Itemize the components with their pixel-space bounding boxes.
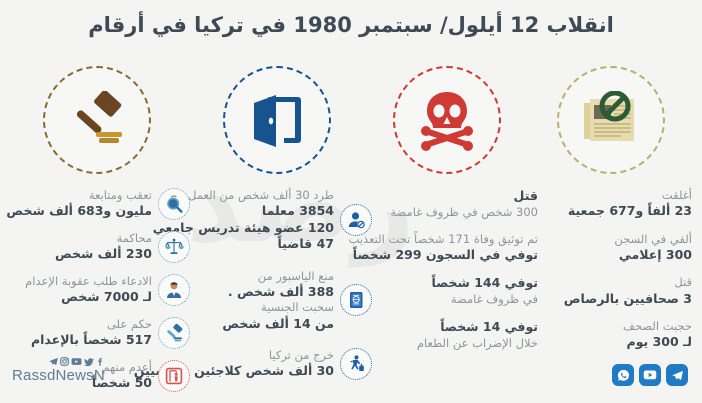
whatsapp-icon <box>617 369 630 382</box>
whatsapp-icon-button[interactable] <box>612 364 634 386</box>
prosecutor-icon <box>158 274 190 306</box>
stat-value: 23 ألفاً و677 جمعية <box>530 203 692 220</box>
facebook-icon <box>96 357 105 366</box>
stats-list-deaths: قتل 300 شخص في ظروف غامضة تم توثيق وفاة … <box>352 188 542 351</box>
stat-value: 230 ألف شخص <box>4 246 152 263</box>
stat-item: قتل 3 صحافيين بالرصاص <box>530 275 692 307</box>
brand-name: RassdNewsN <box>12 367 105 384</box>
youtube-icon <box>71 357 82 366</box>
stat-item: تم توثيق وفاة 171 شخصاً تحت التعذيب توفي… <box>356 232 538 264</box>
scales-of-justice-icon <box>158 231 190 263</box>
refugee-walking-icon <box>340 348 372 380</box>
stat-value: توفي 144 شخصاً <box>356 275 538 292</box>
stat-item: خرج من تركيا 30 ألف شخص كلاجئين سياسيين <box>182 348 372 380</box>
brand-logo: RassdNewsN <box>12 357 105 384</box>
stat-value: 517 شخصاً بالإعدام <box>4 332 152 349</box>
stat-value: 300 شخص في ظروف غامضة <box>356 205 538 220</box>
telegram-icon <box>49 357 58 366</box>
stat-item: توفي 144 شخصاً في ظروف غامضة <box>356 275 538 307</box>
stat-label: محاكمة <box>4 231 152 246</box>
stat-label: ألقي في السجن <box>530 232 692 247</box>
newspaper-banned-icon <box>557 66 665 174</box>
stat-item: حكم على 517 شخصاً بالإعدام <box>4 317 190 349</box>
column-press: أغلقت 23 ألفاً و677 جمعية ألقي في السجن … <box>526 66 696 363</box>
stat-value: 388 ألف شخص . <box>182 284 334 301</box>
telegram-icon <box>671 369 684 382</box>
telegram-icon-button[interactable] <box>666 364 688 386</box>
stat-item: محاكمة 230 ألف شخص <box>4 231 190 263</box>
stat-item: أغلقت 23 ألفاً و677 جمعية <box>530 188 692 220</box>
stat-label: خلال الإضراب عن الطعام <box>356 336 538 351</box>
stat-label: قتل <box>530 275 692 290</box>
stat-value: مليون و683 ألف شخص <box>4 203 152 220</box>
stat-label: تم توثيق وفاة 171 شخصاً تحت التعذيب <box>356 232 538 247</box>
column-exile: طرد 30 ألف شخص من العمل 3854 معلما 120 ع… <box>182 66 372 391</box>
infographic-canvas: رصد انقلاب 12 أيلول/ سبتمبر 1980 في تركي… <box>0 0 702 400</box>
open-door-icon <box>223 66 331 174</box>
stat-label: تعقب ومتابعة <box>4 188 152 203</box>
stat-label: أغلقت <box>530 188 692 203</box>
stat-label: منع الياسبور من <box>182 269 334 284</box>
stat-item: حجبت الصحف لـ 300 يوم <box>530 319 692 351</box>
stat-label: حجبت الصحف <box>530 319 692 334</box>
stats-list-press: أغلقت 23 ألفاً و677 جمعية ألقي في السجن … <box>526 188 696 351</box>
magnifier-fingerprint-icon <box>158 188 190 220</box>
stat-item: ألقي في السجن 300 إعلامي <box>530 232 692 264</box>
stat-value: لـ 7000 شخص <box>4 289 152 306</box>
stats-list-exile: طرد 30 ألف شخص من العمل 3854 معلما 120 ع… <box>182 188 372 380</box>
instagram-icon <box>60 357 69 366</box>
stat-label: حكم على <box>4 317 152 332</box>
column-justice: تعقب ومتابعة مليون و683 ألف شخص <box>4 66 190 403</box>
stat-value: لـ 300 يوم <box>530 334 692 351</box>
gavel-icon <box>43 66 151 174</box>
stat-extra: من 14 ألف شخص <box>182 316 334 333</box>
page-title: انقلاب 12 أيلول/ سبتمبر 1980 في تركيا في… <box>0 13 702 37</box>
stat-value: 3 صحافيين بالرصاص <box>530 291 692 308</box>
stat-label: قتل <box>356 188 538 205</box>
stat-item: طرد 30 ألف شخص من العمل 3854 معلما 120 ع… <box>182 188 372 253</box>
brand-social-icons <box>12 357 105 366</box>
passport-icon <box>340 284 372 316</box>
twitter-icon <box>84 357 94 366</box>
gallows-icon <box>158 360 190 392</box>
youtube-icon <box>643 369 657 381</box>
stat-label: الادعاء طلب عقوبة الإعدام <box>4 274 152 289</box>
gavel-small-icon <box>158 317 190 349</box>
youtube-icon-button[interactable] <box>639 364 661 386</box>
stat-item: الادعاء طلب عقوبة الإعدام لـ 7000 شخص <box>4 274 190 306</box>
stat-label: في ظروف غامضة <box>356 292 538 307</box>
stat-value: توفي 14 شخصاً <box>356 319 538 336</box>
stat-item: قتل 300 شخص في ظروف غامضة <box>356 188 538 220</box>
user-blocked-icon <box>340 204 372 236</box>
stat-item: توفي 14 شخصاً خلال الإضراب عن الطعام <box>356 319 538 351</box>
column-deaths: قتل 300 شخص في ظروف غامضة تم توثيق وفاة … <box>352 66 542 363</box>
stat-value: 300 إعلامي <box>530 247 692 264</box>
skull-crossbones-icon <box>393 66 501 174</box>
stat-extra: سحبت الجنسية <box>182 300 334 315</box>
stat-item: تعقب ومتابعة مليون و683 ألف شخص <box>4 188 190 220</box>
stat-value: توفي في السجون 299 شخصاً <box>356 247 538 264</box>
footer-icon-group <box>612 364 688 386</box>
stat-item: منع الياسبور من 388 ألف شخص . سحبت الجنس… <box>182 269 372 332</box>
